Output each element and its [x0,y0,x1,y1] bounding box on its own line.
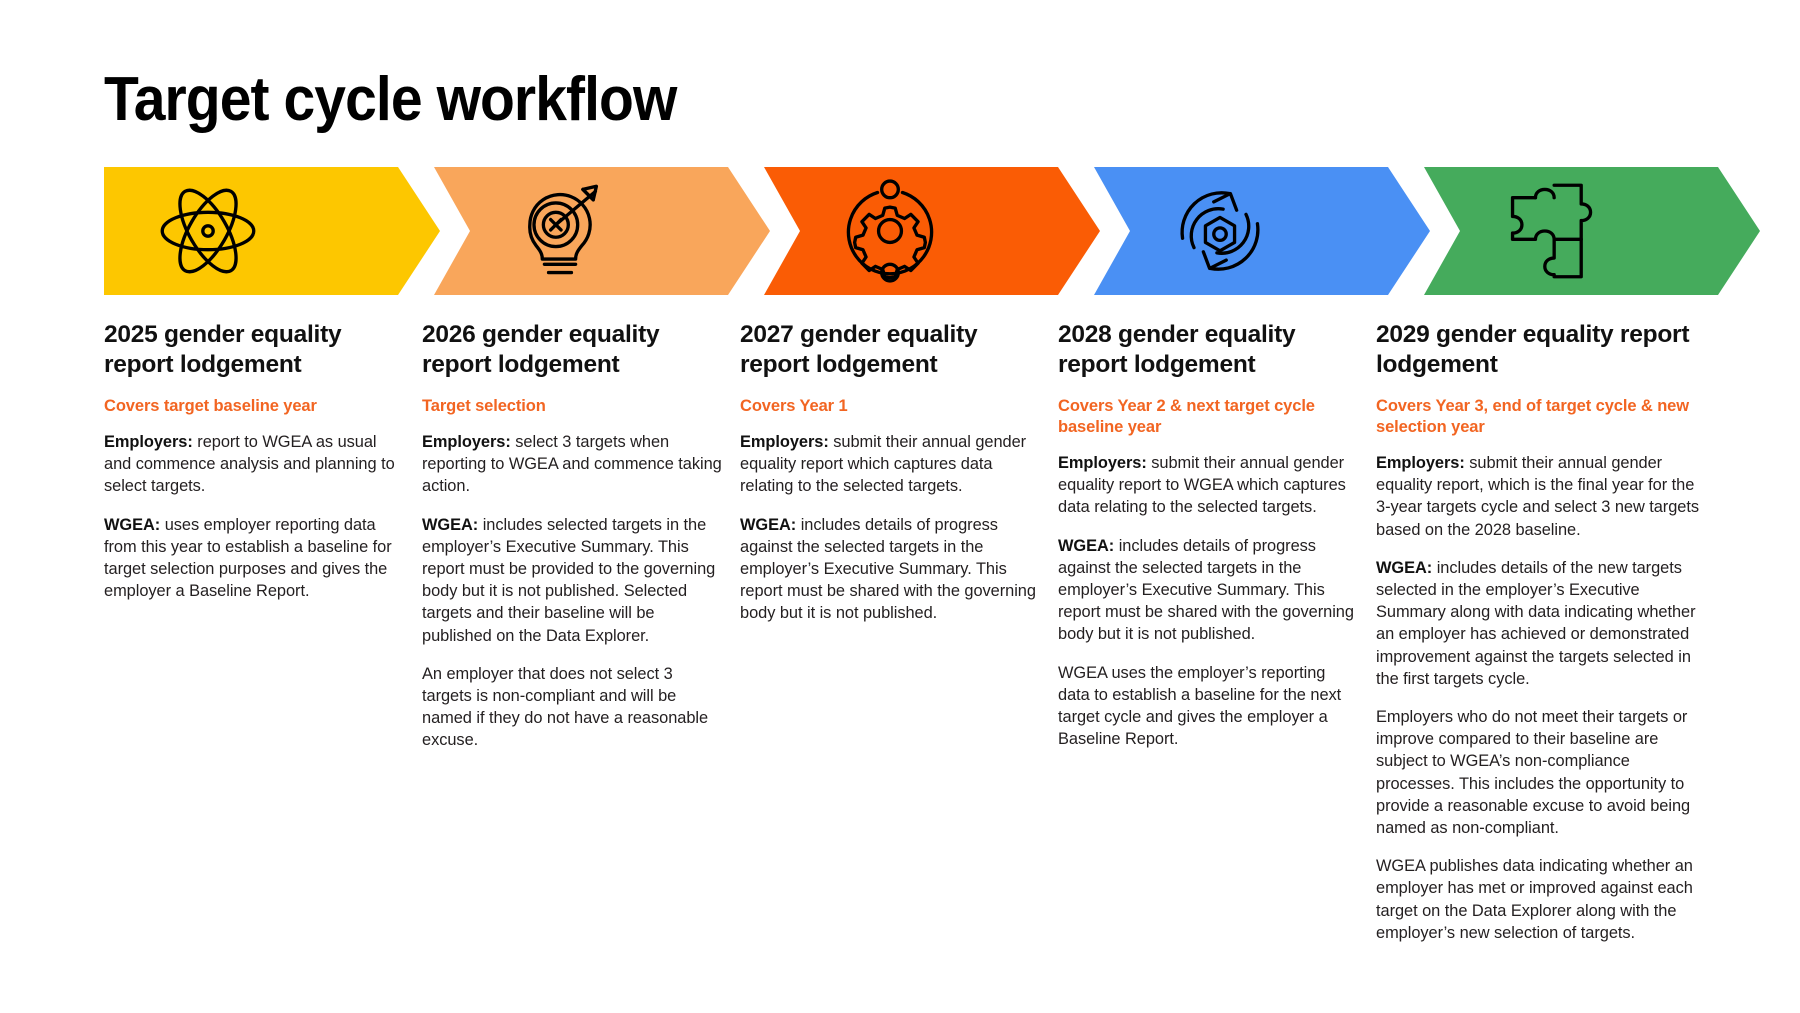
column-2029-paragraph-2-lead: WGEA: [1376,559,1432,577]
chevron-2025-shape [104,167,440,295]
column-2028-paragraph-3: WGEA uses the employer’s reporting data … [1058,662,1358,751]
column-2029-paragraph-4-text: WGEA publishes data indicating whether a… [1376,857,1693,942]
column-2025-paragraph-2: WGEA: uses employer reporting data from … [104,514,404,603]
column-2027-paragraph-2-lead: WGEA: [740,516,796,534]
column-2025-paragraph-2-lead: WGEA: [104,516,160,534]
column-2025-paragraph-1: Employers: report to WGEA as usual and c… [104,431,404,498]
chevron-band [104,167,1758,295]
columns-container: 2025 gender equality report lodgementCov… [104,320,1774,944]
column-2026-paragraph-3: An employer that does not select 3 targe… [422,663,722,752]
column-2025-paragraph-1-lead: Employers: [104,433,193,451]
column-2026-kicker: Target selection [422,396,722,417]
chevron-2027 [764,167,1100,295]
chevron-2029-shape [1424,167,1760,295]
chevron-2026-shape [434,167,770,295]
column-2029-paragraph-3-text: Employers who do not meet their targets … [1376,708,1690,837]
column-2027-paragraph-2: WGEA: includes details of progress again… [740,514,1040,625]
column-2029-paragraph-4: WGEA publishes data indicating whether a… [1376,855,1706,944]
column-2029-paragraph-1: Employers: submit their annual gender eq… [1376,452,1706,541]
column-2029-paragraph-1-lead: Employers: [1376,454,1465,472]
column-2027: 2027 gender equality report lodgementCov… [740,320,1040,944]
column-2026-paragraph-2-lead: WGEA: [422,516,478,534]
chevron-2026 [434,167,770,295]
column-2026-title: 2026 gender equality report lodgement [422,320,722,380]
column-2025-kicker: Covers target baseline year [104,396,404,417]
column-2028-kicker: Covers Year 2 & next target cycle baseli… [1058,396,1358,438]
column-2026-paragraph-2: WGEA: includes selected targets in the e… [422,514,722,647]
column-2028: 2028 gender equality report lodgementCov… [1058,320,1358,944]
column-2029-paragraph-2-text: includes details of the new targets sele… [1376,559,1696,688]
column-2026-paragraph-1-lead: Employers: [422,433,511,451]
column-2028-paragraph-1: Employers: submit their annual gender eq… [1058,452,1358,519]
column-2025: 2025 gender equality report lodgementCov… [104,320,404,944]
column-2027-paragraph-1: Employers: submit their annual gender eq… [740,431,1040,498]
chevron-2028 [1094,167,1430,295]
chevron-2025 [104,167,440,295]
column-2029: 2029 gender equality report lodgementCov… [1376,320,1706,944]
column-2028-title: 2028 gender equality report lodgement [1058,320,1358,380]
column-2029-paragraph-3: Employers who do not meet their targets … [1376,706,1706,839]
chevron-2028-shape [1094,167,1430,295]
column-2029-kicker: Covers Year 3, end of target cycle & new… [1376,396,1706,438]
chevron-2027-shape [764,167,1100,295]
workflow-infographic: Target cycle workflow [0,0,1800,1013]
column-2028-paragraph-3-text: WGEA uses the employer’s reporting data … [1058,664,1341,749]
column-2026-paragraph-1: Employers: select 3 targets when reporti… [422,431,722,498]
column-2027-title: 2027 gender equality report lodgement [740,320,1040,380]
column-2028-paragraph-1-lead: Employers: [1058,454,1147,472]
column-2029-title: 2029 gender equality report lodgement [1376,320,1706,380]
column-2027-kicker: Covers Year 1 [740,396,1040,417]
column-2028-paragraph-2-lead: WGEA: [1058,537,1114,555]
column-2026: 2026 gender equality report lodgementTar… [422,320,722,944]
column-2027-paragraph-1-lead: Employers: [740,433,829,451]
column-2028-paragraph-2: WGEA: includes details of progress again… [1058,535,1358,646]
page-title: Target cycle workflow [104,64,676,136]
column-2026-paragraph-3-text: An employer that does not select 3 targe… [422,665,708,750]
column-2029-paragraph-2: WGEA: includes details of the new target… [1376,557,1706,690]
column-2026-paragraph-2-text: includes selected targets in the employe… [422,516,715,645]
chevron-2029 [1424,167,1760,295]
column-2025-title: 2025 gender equality report lodgement [104,320,404,380]
